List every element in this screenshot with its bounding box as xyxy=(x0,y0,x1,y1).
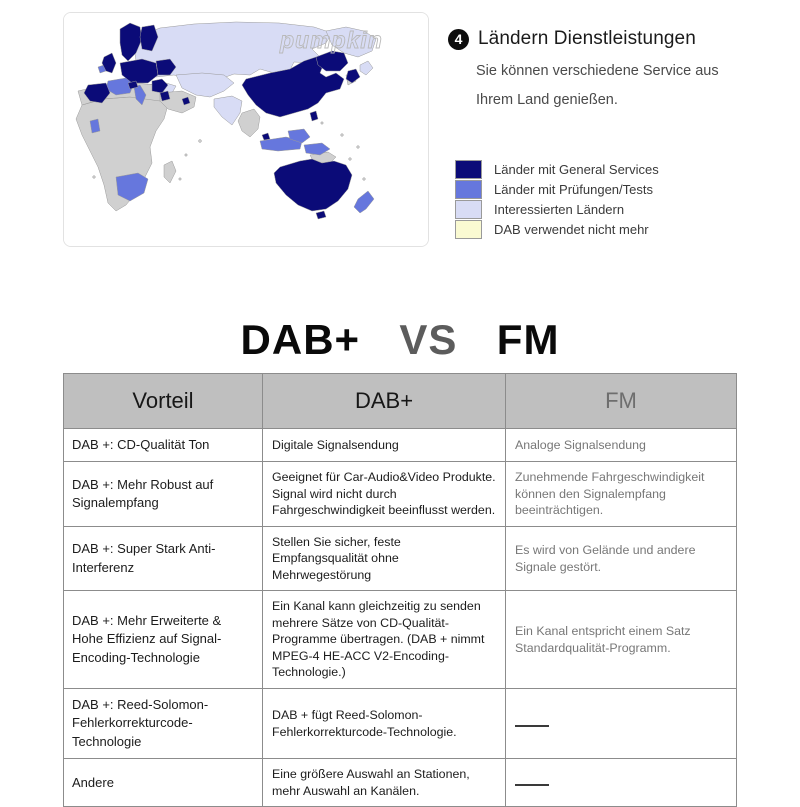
legend-swatch-interested xyxy=(455,200,482,219)
dab-vs-fm-comparison-table: Vorteil DAB+ FM DAB +: CD-Qualität Ton D… xyxy=(63,373,737,807)
cell-fm-dash xyxy=(506,759,737,807)
map-legend: Länder mit General Services Länder mit P… xyxy=(455,159,715,239)
island-dot xyxy=(199,140,202,143)
table-row: DAB +: CD-Qualität Ton Digitale Signalse… xyxy=(64,429,737,462)
table-row: Andere Eine größere Auswahl an Stationen… xyxy=(64,759,737,807)
cell-advantage: Andere xyxy=(64,759,263,807)
cell-dab: Stellen Sie sicher, feste Empfangsqualit… xyxy=(263,526,506,591)
info-block: 4 Ländern Dienstleistungen Sie können ve… xyxy=(448,28,778,108)
cell-fm: Ein Kanal entspricht einem Satz Standard… xyxy=(506,591,737,689)
cell-advantage: DAB +: Mehr Robust auf Signalempfang xyxy=(64,462,263,527)
cell-fm: Es wird von Gelände und andere Signale g… xyxy=(506,526,737,591)
legend-item: Interessierten Ländern xyxy=(455,199,715,219)
cell-dab: DAB + fügt Reed-Solomon-Fehlerkorrekturc… xyxy=(263,688,506,758)
number-badge-icon: 4 xyxy=(448,29,469,50)
legend-label: DAB verwendet nicht mehr xyxy=(494,222,649,237)
legend-label: Länder mit General Services xyxy=(494,162,659,177)
cell-advantage: DAB +: CD-Qualität Ton xyxy=(64,429,263,462)
world-map-panel: pumpkin xyxy=(63,12,429,247)
island-dot xyxy=(349,158,352,161)
section-heading: Ländern Dienstleistungen xyxy=(478,28,696,50)
table-row: DAB +: Mehr Robust auf Signalempfang Gee… xyxy=(64,462,737,527)
island-dot xyxy=(363,178,366,181)
island-dot xyxy=(179,178,181,180)
header-section: pumpkin 4 Ländern Dienstleistungen Sie k… xyxy=(0,0,800,270)
island-dot xyxy=(93,176,96,179)
cell-advantage: DAB +: Reed-Solomon-Fehlerkorrekturcode-… xyxy=(64,688,263,758)
legend-swatch-trials-tests xyxy=(455,180,482,199)
em-dash-icon xyxy=(515,725,549,727)
section-paragraph-line-2: Ihrem Land genießen. xyxy=(476,92,778,108)
info-heading-row: 4 Ländern Dienstleistungen xyxy=(448,28,778,50)
cell-advantage: DAB +: Mehr Erweiterte & Hohe Effizienz … xyxy=(64,591,263,689)
legend-item: DAB verwendet nicht mehr xyxy=(455,219,715,239)
title-right: FM xyxy=(497,316,560,363)
table-row: DAB +: Reed-Solomon-Fehlerkorrekturcode-… xyxy=(64,688,737,758)
legend-label: Länder mit Prüfungen/Tests xyxy=(494,182,653,197)
em-dash-icon xyxy=(515,784,549,786)
world-map-svg xyxy=(64,13,429,247)
island-dot xyxy=(185,154,187,156)
column-header-dab: DAB+ xyxy=(263,374,506,429)
title-middle: VS xyxy=(399,316,457,363)
cell-dab: Digitale Signalsendung xyxy=(263,429,506,462)
section-paragraph-line-1: Sie können verschiedene Service aus xyxy=(476,63,778,79)
cell-dab: Ein Kanal kann gleichzeitig zu senden me… xyxy=(263,591,506,689)
legend-swatch-discontinued xyxy=(455,220,482,239)
region-ghana xyxy=(90,119,100,133)
table-row: DAB +: Mehr Erweiterte & Hohe Effizienz … xyxy=(64,591,737,689)
region-greece xyxy=(160,91,170,101)
cell-fm: Analoge Signalsendung xyxy=(506,429,737,462)
comparison-title: DAB+ VS FM xyxy=(0,316,800,364)
cell-fm-dash xyxy=(506,688,737,758)
legend-item: Länder mit General Services xyxy=(455,159,715,179)
cell-advantage: DAB +: Super Stark Anti-Interferenz xyxy=(64,526,263,591)
cell-dab: Geeignet für Car-Audio&Video Produkte. S… xyxy=(263,462,506,527)
island-dot xyxy=(341,134,344,137)
island-dot xyxy=(321,122,323,124)
cell-fm: Zunehmende Fahrgeschwindigkeit können de… xyxy=(506,462,737,527)
title-left: DAB+ xyxy=(241,316,361,363)
legend-item: Länder mit Prüfungen/Tests xyxy=(455,179,715,199)
legend-label: Interessierten Ländern xyxy=(494,202,624,217)
island-dot xyxy=(357,146,360,149)
column-header-vorteil: Vorteil xyxy=(64,374,263,429)
legend-swatch-general-services xyxy=(455,160,482,179)
table-row: DAB +: Super Stark Anti-Interferenz Stel… xyxy=(64,526,737,591)
table-header-row: Vorteil DAB+ FM xyxy=(64,374,737,429)
cell-dab: Eine größere Auswahl an Stationen, mehr … xyxy=(263,759,506,807)
column-header-fm: FM xyxy=(506,374,737,429)
